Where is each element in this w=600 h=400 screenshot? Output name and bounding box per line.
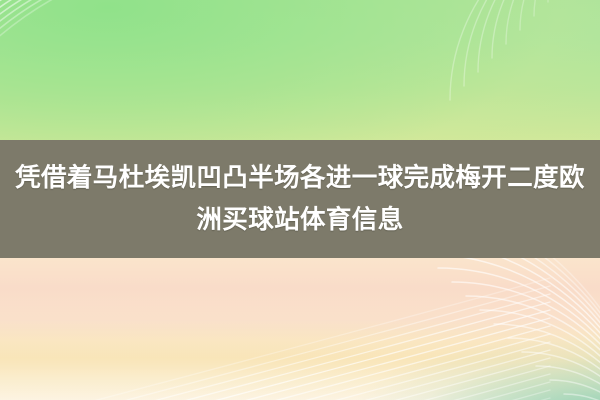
- caption-headline: 凭借着马杜埃凯凹凸半场各进一球完成梅开二度欧洲买球站体育信息: [0, 157, 600, 241]
- caption-band: 凭借着马杜埃凯凹凸半场各进一球完成梅开二度欧洲买球站体育信息: [0, 140, 600, 258]
- sports-news-banner: 凭借着马杜埃凯凹凸半场各进一球完成梅开二度欧洲买球站体育信息: [0, 0, 600, 400]
